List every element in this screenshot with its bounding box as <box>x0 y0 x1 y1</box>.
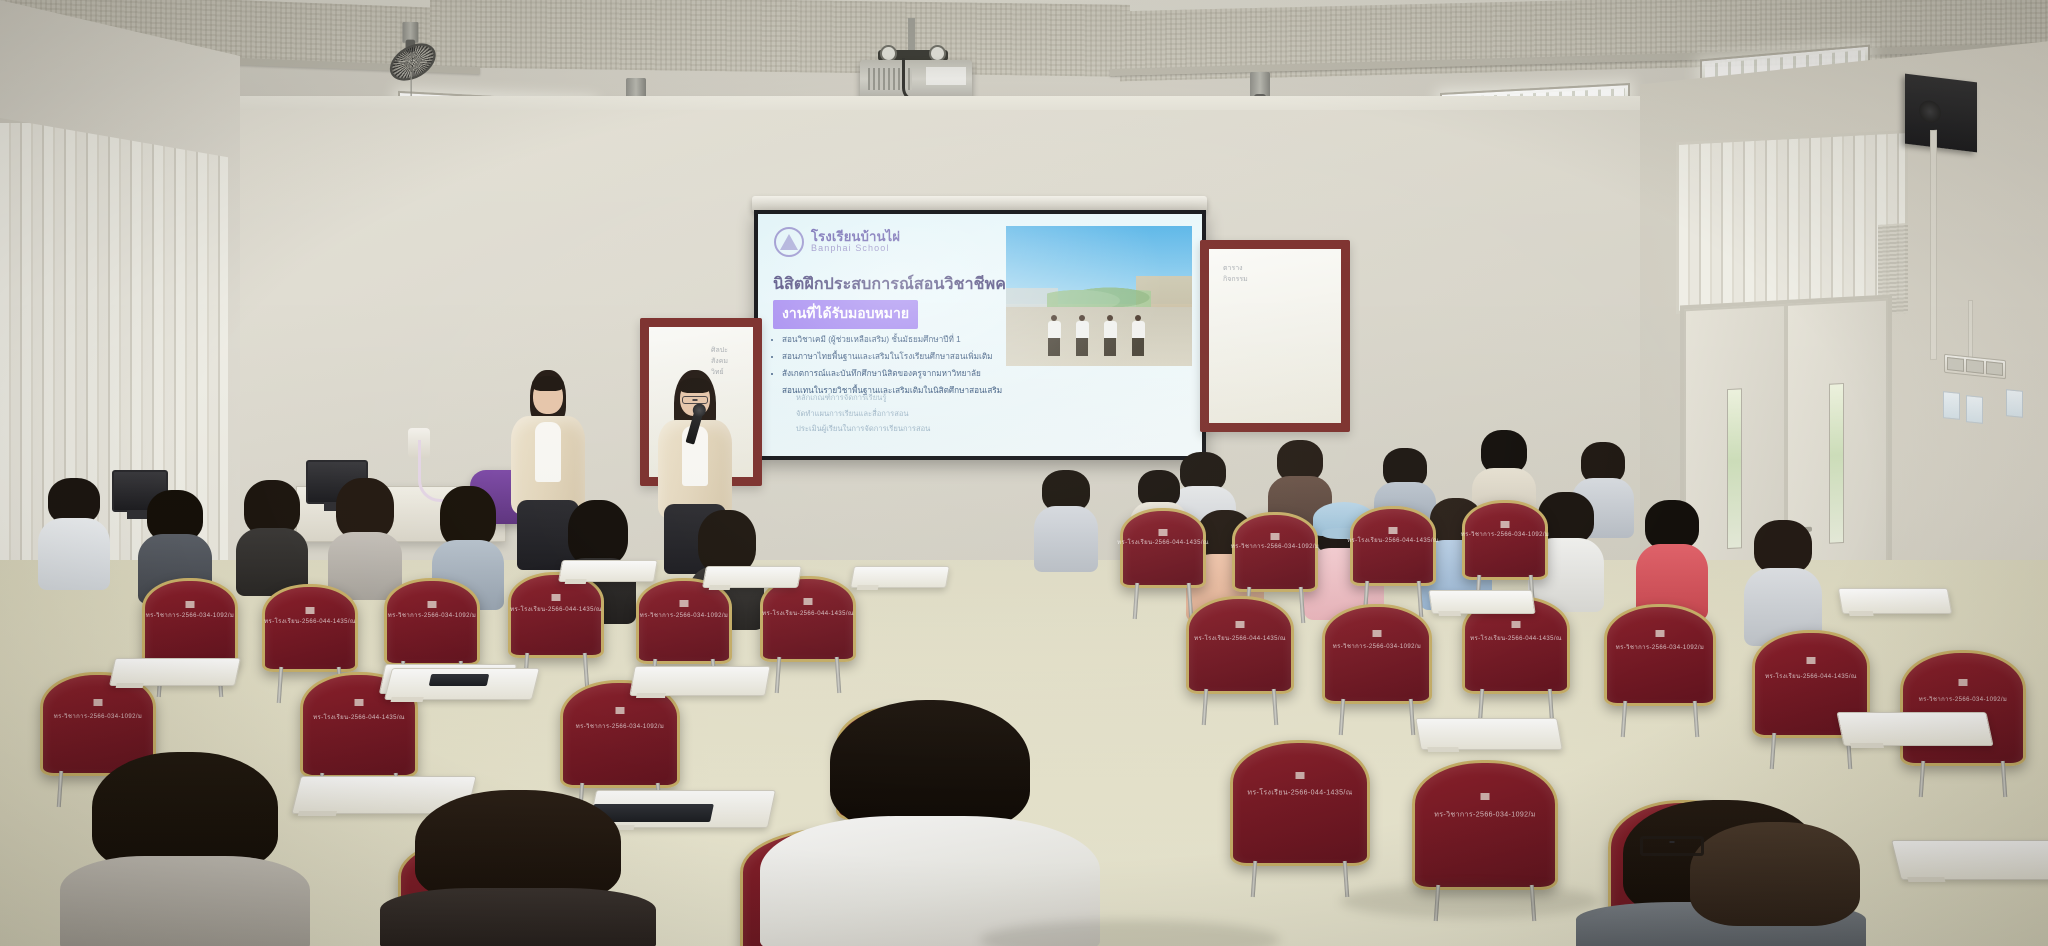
chair[interactable]: ทร-โรงเรียน-2566-044-1435/ณ <box>1120 508 1206 588</box>
slide-school-logo: โรงเรียนบ้านไผ่ Banphai School <box>774 227 900 257</box>
desk-tablet-arm <box>629 666 770 696</box>
audience-member <box>328 478 402 598</box>
chair[interactable]: ทร-วิชาการ-2566-034-1092/ม <box>636 578 732 664</box>
desk-tablet-arm <box>109 658 241 686</box>
audience-member <box>1636 500 1708 618</box>
chair[interactable]: ทร-โรงเรียน-2566-044-1435/ณ <box>508 572 604 658</box>
chair[interactable]: ทร-โรงเรียน-2566-044-1435/ณ <box>1186 596 1294 694</box>
wall-conduit-2 <box>1968 300 1973 362</box>
laptop[interactable] <box>429 674 490 686</box>
chair[interactable]: ทร-วิชาการ-2566-034-1092/ม <box>384 578 480 666</box>
slide-note-line: จัดทำแผนการเรียนและสื่อการสอน <box>796 406 1036 422</box>
slide-note-line: หลักเกณฑ์การจัดการเรียนรู้ <box>796 390 1036 406</box>
photo-student <box>1047 315 1062 356</box>
desk-tablet-arm <box>702 566 802 588</box>
wall-paper-note <box>2006 389 2023 418</box>
vertical-blinds-transom[interactable] <box>1676 130 1908 314</box>
slide-title: นิสิตฝึกประสบการณ์สอนวิชาชีพครู <box>773 272 1015 297</box>
wall-paper-note <box>1943 391 1960 420</box>
foreground-student-white-shirt <box>760 700 1100 946</box>
projector-label <box>926 67 966 85</box>
projection-screen: โรงเรียนบ้านไผ่ Banphai School นิสิตฝึกป… <box>754 210 1206 460</box>
glasses-icon <box>1640 836 1704 856</box>
slide-note-line: ประเมินผู้เรียนในการจัดการเรียนการสอน <box>796 421 1036 437</box>
wall-speaker <box>1905 74 1977 153</box>
glasses-icon <box>682 396 708 404</box>
photo-ground <box>1006 307 1192 366</box>
slide-photo-students-schoolyard <box>1006 226 1192 366</box>
door-window-pane <box>1829 383 1844 544</box>
school-name-en: Banphai School <box>811 244 900 253</box>
chair[interactable]: ทร-วิชาการ-2566-034-1092/ม <box>1604 604 1716 706</box>
chair[interactable]: ทร-วิชาการ-2566-034-1092/ม <box>1322 604 1432 704</box>
photo-student <box>1075 315 1090 356</box>
audience-member <box>38 478 110 588</box>
slide-bullet-item: สังเกตการณ์และบันทึกศึกษานิสิตของครูจากม… <box>782 366 1050 382</box>
desk-tablet-arm <box>850 566 950 588</box>
photo-student <box>1103 315 1118 356</box>
audience-member <box>1034 470 1098 570</box>
chair[interactable]: ทร-โรงเรียน-2566-044-1435/ณ <box>1230 740 1370 866</box>
chair[interactable]: ทร-โรงเรียน-2566-044-1435/ณ <box>262 584 358 672</box>
classroom-photo: โรงเรียนบ้านไผ่ Banphai School นิสิตฝึกป… <box>0 0 2048 946</box>
ceiling-tiles-center <box>430 0 1130 77</box>
desk-tablet-arm <box>1415 718 1563 750</box>
desk-tablet-arm <box>558 560 658 582</box>
whiteboard-note-right: ตาราง กิจกรรม <box>1223 263 1248 285</box>
chair[interactable]: ทร-โรงเรียน-2566-044-1435/ณ <box>760 576 856 662</box>
whiteboard-right: ตาราง กิจกรรม <box>1200 240 1350 432</box>
chair[interactable]: ทร-วิชาการ-2566-034-1092/ม <box>142 578 238 666</box>
desk-tablet-arm-front <box>1891 840 2048 880</box>
school-seal-icon <box>774 227 804 257</box>
slide-notes: หลักเกณฑ์การจัดการเรียนรู้ จัดทำแผนการเร… <box>796 390 1036 437</box>
audience-member <box>236 480 308 594</box>
foreground-student-left <box>60 752 310 946</box>
chair[interactable]: ทร-วิชาการ-2566-034-1092/ม <box>1900 650 2026 766</box>
chair[interactable]: ทร-วิชาการ-2566-034-1092/ม <box>1462 500 1548 580</box>
chair[interactable]: ทร-โรงเรียน-2566-044-1435/ณ <box>1350 506 1436 586</box>
chair[interactable]: ทร-วิชาการ-2566-034-1092/ม <box>1412 760 1558 890</box>
wall-conduit <box>1930 130 1937 360</box>
desk-tablet-arm <box>1836 712 1993 746</box>
school-name-th: โรงเรียนบ้านไผ่ <box>811 230 900 244</box>
door-window-pane <box>1727 388 1742 549</box>
slide-subheading: งานที่ได้รับมอบหมาย <box>773 300 918 329</box>
desk-tablet-arm <box>1838 588 1953 614</box>
desk-tablet-arm <box>1428 590 1535 614</box>
foreground-student-center-left <box>380 790 656 946</box>
wall-paper-note <box>1966 395 1983 424</box>
presentation-slide: โรงเรียนบ้านไผ่ Banphai School นิสิตฝึกป… <box>758 214 1202 456</box>
photo-student <box>1131 315 1146 356</box>
chair[interactable]: ทร-วิชาการ-2566-034-1092/ม <box>1232 512 1318 592</box>
audience-member <box>1744 520 1822 644</box>
